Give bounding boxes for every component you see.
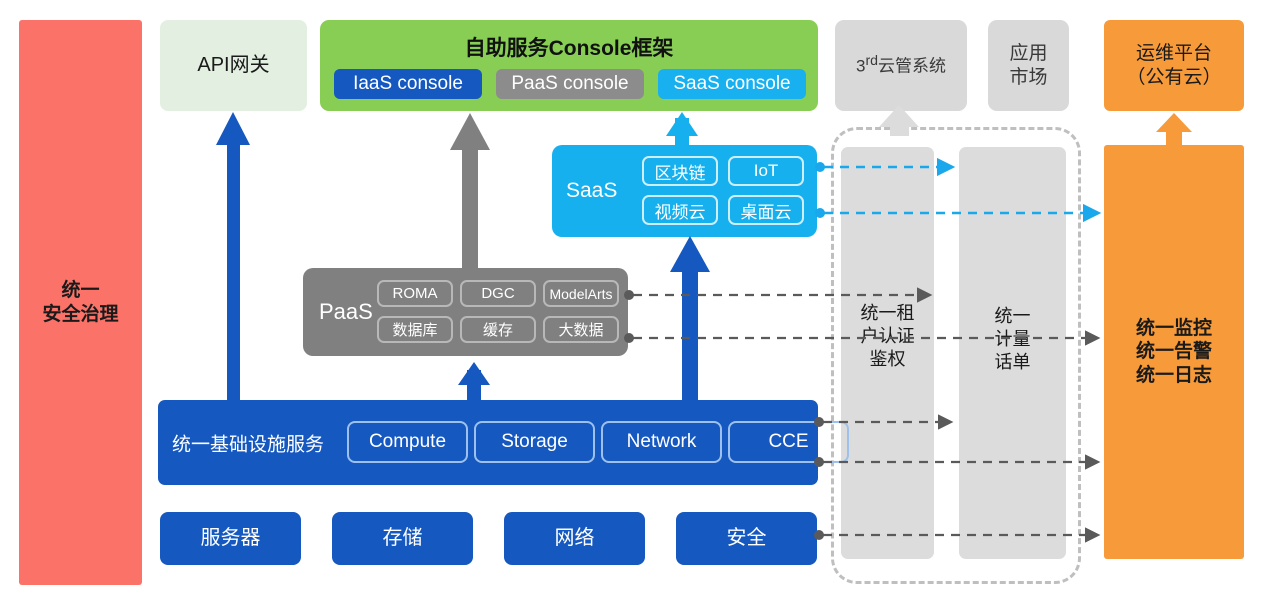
- right-pillar-line2: 统一告警: [1136, 340, 1212, 363]
- paas-chip-database-label: 数据库: [392, 319, 437, 340]
- paas-chip-modelarts-label: ModelArts: [549, 286, 612, 302]
- saas-chip-iot-label: IoT: [754, 161, 779, 181]
- infra-chip-storage[interactable]: Storage: [474, 421, 595, 463]
- infra-chip-compute[interactable]: Compute: [347, 421, 468, 463]
- column-unified-tenant-auth[interactable]: 统一租 户认证 鉴权: [841, 147, 934, 559]
- third-party-sup: rd: [865, 53, 878, 69]
- infra-chip-cce-label: CCE: [768, 431, 808, 453]
- col1-line1: 统一租: [841, 302, 934, 325]
- paas-chip-dgc[interactable]: DGC: [460, 280, 536, 307]
- unified-infrastructure-label: 统一基础设施服务: [172, 429, 324, 456]
- paas-label: PaaS: [319, 299, 373, 325]
- column-unified-metering-billing-label: 统一 计量 话单: [959, 305, 1066, 374]
- col1-line2: 户认证: [841, 325, 934, 348]
- resource-box-storage[interactable]: 存储: [332, 512, 473, 565]
- resource-box-network-label: 网络: [555, 526, 595, 550]
- infra-chip-network[interactable]: Network: [601, 421, 722, 463]
- saas-chip-blockchain-label: 区块链: [655, 159, 706, 184]
- left-pillar-line2: 安全治理: [42, 303, 118, 326]
- app-market-box[interactable]: 应用 市场: [988, 20, 1069, 111]
- resource-box-server-label: 服务器: [201, 526, 261, 550]
- unified-infrastructure-box: 统一基础设施服务 Compute Storage Network CCE: [158, 400, 818, 485]
- infra-chip-storage-label: Storage: [501, 431, 568, 453]
- chip-paas-console-label: PaaS console: [511, 73, 628, 95]
- console-frame-title: 自助服务Console框架: [320, 32, 818, 62]
- resource-box-security[interactable]: 安全: [676, 512, 817, 565]
- app-market-line1: 应用: [1009, 42, 1047, 65]
- paas-box: PaaS ROMA DGC ModelArts 数据库 缓存 大数据: [303, 268, 628, 356]
- right-pillar-line1: 统一监控: [1136, 317, 1212, 340]
- infra-chip-compute-label: Compute: [369, 431, 446, 453]
- paas-chip-bigdata-label: 大数据: [558, 319, 603, 340]
- arrow-infra-to-saas: [670, 236, 710, 402]
- left-pillar-line1: 统一: [61, 279, 99, 302]
- paas-chip-roma-label: ROMA: [393, 285, 438, 302]
- saas-chip-desktop-cloud-label: 桌面云: [741, 198, 792, 223]
- right-pillar-line3: 统一日志: [1136, 364, 1212, 387]
- arrow-paas-to-console: [450, 113, 490, 269]
- paas-chip-modelarts[interactable]: ModelArts: [543, 280, 619, 307]
- third-party-cloud-mgmt-label: 3rd云管系统: [856, 53, 946, 77]
- resource-box-server[interactable]: 服务器: [160, 512, 301, 565]
- saas-chip-video-cloud[interactable]: 视频云: [642, 195, 718, 225]
- chip-iaas-console[interactable]: IaaS console: [334, 69, 482, 99]
- self-service-console-frame: 自助服务Console框架 IaaS console PaaS console …: [320, 20, 818, 111]
- ops-platform-line2: （公有云）: [1126, 66, 1221, 89]
- chip-saas-console-label: SaaS console: [673, 73, 790, 95]
- chip-saas-console[interactable]: SaaS console: [658, 69, 806, 99]
- resource-box-storage-label: 存储: [383, 526, 423, 550]
- saas-box: SaaS 区块链 IoT 视频云 桌面云: [552, 145, 817, 237]
- saas-chip-desktop-cloud[interactable]: 桌面云: [728, 195, 804, 225]
- paas-chip-roma[interactable]: ROMA: [377, 280, 453, 307]
- column-unified-metering-billing[interactable]: 统一 计量 话单: [959, 147, 1066, 559]
- arrow-ops-pillar-to-ops-platform: [1156, 113, 1192, 145]
- col2-line2: 计量: [959, 328, 1066, 351]
- left-pillar-unified-security: 统一 安全治理: [19, 20, 142, 585]
- col1-line3: 鉴权: [841, 348, 934, 371]
- chip-paas-console[interactable]: PaaS console: [496, 69, 644, 99]
- ops-platform-box[interactable]: 运维平台 （公有云）: [1104, 20, 1244, 111]
- arrow-infra-to-api-gateway: [216, 112, 250, 402]
- paas-chip-dgc-label: DGC: [481, 285, 514, 302]
- paas-chip-cache[interactable]: 缓存: [460, 316, 536, 343]
- paas-chip-bigdata[interactable]: 大数据: [543, 316, 619, 343]
- arrow-infra-to-paas: [458, 362, 490, 402]
- saas-label: SaaS: [566, 179, 617, 203]
- third-party-cloud-mgmt-box[interactable]: 3rd云管系统: [835, 20, 967, 111]
- saas-chip-iot[interactable]: IoT: [728, 156, 804, 186]
- infra-chip-cce[interactable]: CCE: [728, 421, 849, 463]
- col2-line3: 话单: [959, 351, 1066, 374]
- saas-chip-blockchain[interactable]: 区块链: [642, 156, 718, 186]
- third-party-suffix: 云管系统: [878, 57, 946, 76]
- arrow-saas-to-console: [666, 112, 698, 147]
- ops-platform-line1: 运维平台: [1136, 42, 1212, 65]
- col2-line1: 统一: [959, 305, 1066, 328]
- app-market-line2: 市场: [1009, 66, 1047, 89]
- api-gateway-label: API网关: [197, 53, 269, 77]
- api-gateway-box[interactable]: API网关: [160, 20, 307, 111]
- infra-chip-network-label: Network: [627, 431, 697, 453]
- column-unified-tenant-auth-label: 统一租 户认证 鉴权: [841, 302, 934, 371]
- chip-iaas-console-label: IaaS console: [353, 73, 463, 95]
- resource-box-security-label: 安全: [727, 526, 767, 550]
- architecture-diagram: 统一 安全治理 API网关 自助服务Console框架 IaaS console…: [0, 0, 1265, 605]
- right-pillar-unified-monitoring: 统一监控 统一告警 统一日志: [1104, 145, 1244, 559]
- paas-chip-database[interactable]: 数据库: [377, 316, 453, 343]
- saas-chip-video-cloud-label: 视频云: [655, 198, 706, 223]
- paas-chip-cache-label: 缓存: [483, 319, 513, 340]
- resource-box-network[interactable]: 网络: [504, 512, 645, 565]
